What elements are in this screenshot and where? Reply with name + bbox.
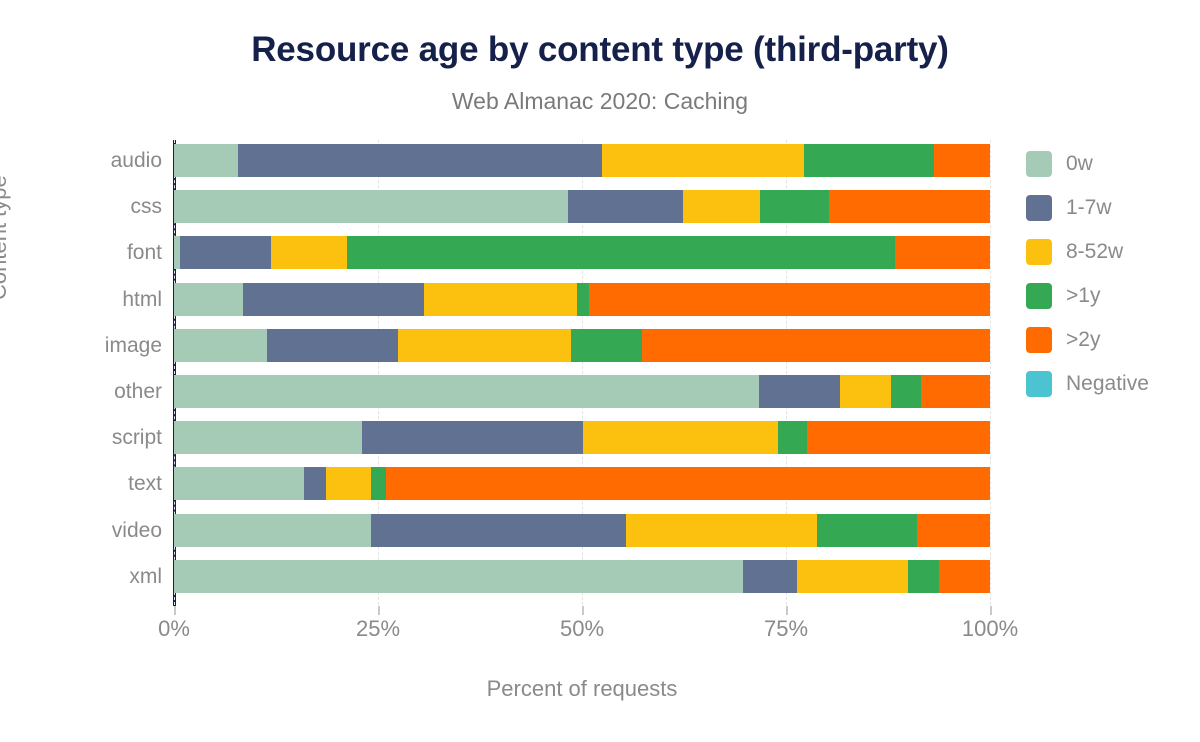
legend-label: >1y	[1066, 284, 1100, 308]
plot-area	[174, 140, 990, 605]
legend-label: Negative	[1066, 372, 1149, 396]
bar-segment[interactable]	[326, 467, 371, 500]
bar-segment[interactable]	[304, 467, 326, 500]
x-tick-label: 25%	[356, 616, 400, 642]
x-tick-label: 50%	[560, 616, 604, 642]
legend-swatch-icon	[1026, 371, 1052, 397]
bar-segment[interactable]	[817, 514, 917, 547]
bar-row[interactable]	[174, 421, 990, 454]
bar-segment[interactable]	[778, 421, 807, 454]
bar-series-group	[174, 140, 990, 605]
y-axis-label: css	[131, 190, 163, 223]
bar-row[interactable]	[174, 236, 990, 269]
bar-segment[interactable]	[180, 236, 271, 269]
x-tick-label: 0%	[158, 616, 190, 642]
bar-segment[interactable]	[891, 375, 921, 408]
bar-segment[interactable]	[759, 375, 840, 408]
x-tick-mark	[174, 606, 176, 615]
y-axis-label: script	[112, 421, 162, 454]
y-axis-label: font	[127, 236, 162, 269]
legend-item[interactable]: 8-52w	[1026, 230, 1196, 274]
bar-segment[interactable]	[174, 329, 267, 362]
bar-row[interactable]	[174, 514, 990, 547]
y-axis-label: other	[114, 375, 162, 408]
y-axis-label: html	[122, 283, 162, 316]
bar-segment[interactable]	[424, 283, 577, 316]
gridline	[990, 140, 991, 605]
bar-row[interactable]	[174, 144, 990, 177]
bar-segment[interactable]	[347, 236, 895, 269]
y-axis-label: image	[105, 329, 162, 362]
bar-segment[interactable]	[362, 421, 583, 454]
bar-row[interactable]	[174, 375, 990, 408]
bar-row[interactable]	[174, 467, 990, 500]
bar-segment[interactable]	[589, 283, 990, 316]
y-axis-label: audio	[111, 144, 162, 177]
x-tick-mark	[786, 606, 788, 615]
y-axis-label: xml	[129, 560, 162, 593]
bar-segment[interactable]	[840, 375, 891, 408]
legend-label: 8-52w	[1066, 240, 1123, 264]
bar-segment[interactable]	[921, 375, 990, 408]
legend-item[interactable]: 0w	[1026, 142, 1196, 186]
bar-segment[interactable]	[829, 190, 990, 223]
bar-segment[interactable]	[238, 144, 601, 177]
y-axis-label: text	[128, 467, 162, 500]
bar-segment[interactable]	[807, 421, 990, 454]
bar-segment[interactable]	[243, 283, 424, 316]
bar-segment[interactable]	[174, 144, 238, 177]
bar-segment[interactable]	[386, 467, 990, 500]
legend-item[interactable]: Negative	[1026, 362, 1196, 406]
bar-segment[interactable]	[174, 283, 243, 316]
legend-item[interactable]: >2y	[1026, 318, 1196, 362]
bar-segment[interactable]	[267, 329, 398, 362]
legend-label: 1-7w	[1066, 196, 1112, 220]
bar-row[interactable]	[174, 190, 990, 223]
x-tick-mark	[990, 606, 992, 615]
bar-segment[interactable]	[797, 560, 909, 593]
bar-segment[interactable]	[174, 375, 759, 408]
bar-segment[interactable]	[371, 467, 387, 500]
bar-segment[interactable]	[642, 329, 990, 362]
legend-label: >2y	[1066, 328, 1100, 352]
bar-segment[interactable]	[743, 560, 797, 593]
legend-swatch-icon	[1026, 283, 1052, 309]
y-axis-title: Content type	[0, 0, 12, 300]
bar-segment[interactable]	[908, 560, 938, 593]
bar-segment[interactable]	[895, 236, 990, 269]
legend-swatch-icon	[1026, 195, 1052, 221]
legend-swatch-icon	[1026, 151, 1052, 177]
legend: 0w1-7w8-52w>1y>2yNegative	[1026, 142, 1196, 406]
bar-segment[interactable]	[683, 190, 760, 223]
bar-segment[interactable]	[917, 514, 990, 547]
page-title: Resource age by content type (third-part…	[0, 30, 1200, 70]
bar-segment[interactable]	[174, 467, 304, 500]
bar-segment[interactable]	[804, 144, 934, 177]
bar-segment[interactable]	[602, 144, 804, 177]
x-tick-label: 100%	[962, 616, 1018, 642]
chart-subtitle: Web Almanac 2020: Caching	[0, 88, 1200, 115]
bar-segment[interactable]	[934, 144, 990, 177]
bar-segment[interactable]	[371, 514, 626, 547]
bar-row[interactable]	[174, 560, 990, 593]
bar-segment[interactable]	[398, 329, 572, 362]
y-axis-label: video	[112, 514, 162, 547]
legend-item[interactable]: >1y	[1026, 274, 1196, 318]
legend-label: 0w	[1066, 152, 1093, 176]
bar-segment[interactable]	[174, 421, 362, 454]
x-tick-mark	[378, 606, 380, 615]
bar-segment[interactable]	[760, 190, 829, 223]
bar-segment[interactable]	[174, 190, 568, 223]
bar-row[interactable]	[174, 283, 990, 316]
bar-segment[interactable]	[271, 236, 347, 269]
bar-segment[interactable]	[568, 190, 683, 223]
bar-segment[interactable]	[577, 283, 589, 316]
bar-segment[interactable]	[583, 421, 778, 454]
bar-segment[interactable]	[626, 514, 817, 547]
legend-item[interactable]: 1-7w	[1026, 186, 1196, 230]
bar-row[interactable]	[174, 329, 990, 362]
x-axis-title: Percent of requests	[174, 676, 990, 702]
x-tick-label: 75%	[764, 616, 808, 642]
bar-segment[interactable]	[571, 329, 641, 362]
bar-segment[interactable]	[174, 514, 371, 547]
legend-swatch-icon	[1026, 327, 1052, 353]
chart-container: Resource age by content type (third-part…	[0, 0, 1200, 742]
bar-segment[interactable]	[939, 560, 990, 593]
bar-segment[interactable]	[174, 560, 743, 593]
x-tick-mark	[582, 606, 584, 615]
legend-swatch-icon	[1026, 239, 1052, 265]
